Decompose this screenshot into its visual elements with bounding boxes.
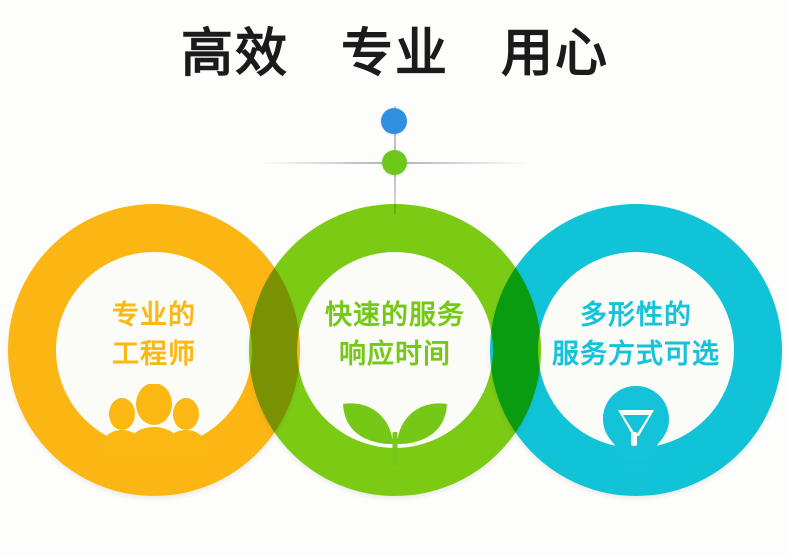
card-flexible-service-text: 多形性的 服务方式可选 <box>468 296 790 374</box>
card-flexible-service[interactable]: 多形性的 服务方式可选 <box>490 204 782 496</box>
card-flexible-service-line-2: 服务方式可选 <box>468 335 790 374</box>
card-flexible-service-line-1: 多形性的 <box>468 296 790 335</box>
poster-canvas: 高效专业用心 专业的 工程师 <box>0 0 790 557</box>
lightbulb-icon <box>490 384 782 476</box>
